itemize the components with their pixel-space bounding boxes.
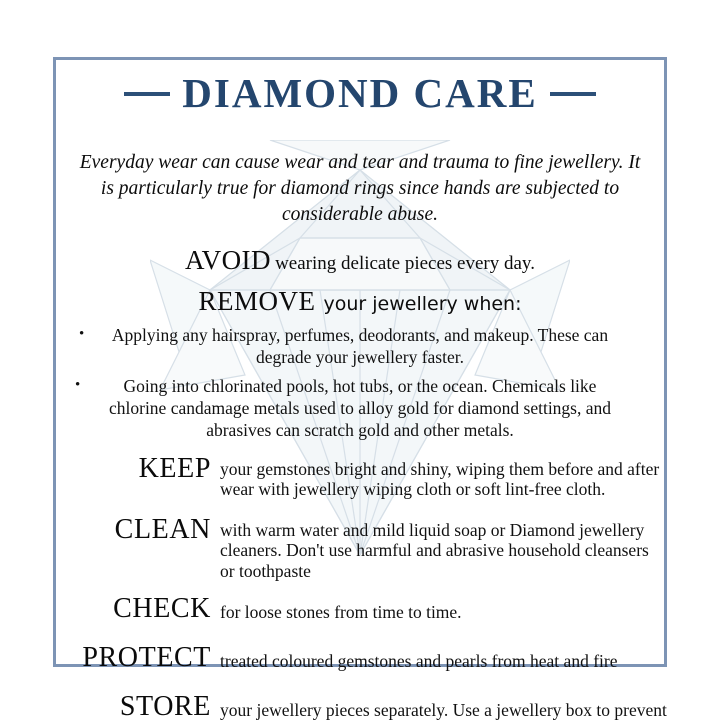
page-title: DIAMOND CARE [182, 73, 537, 114]
keyword-clean: CLEAN [59, 517, 220, 544]
title-rule-right-icon [550, 92, 596, 96]
title-rule-left-icon [124, 92, 170, 96]
removal-bullet-list: • Applying any hairspray, perfumes, deod… [83, 325, 637, 441]
intro-paragraph: Everyday wear can cause wear and tear an… [77, 150, 643, 228]
keyword-protect: PROTECT [59, 645, 220, 672]
care-text-keep: your gemstones bright and shiny, wiping … [220, 456, 667, 500]
care-text-store: your jewellery pieces separately. Use a … [220, 694, 667, 720]
diamond-care-poster: DIAMOND CARE Everyday wear can cause wea… [0, 0, 720, 720]
keyword-check: CHECK [59, 596, 220, 623]
poster-content: DIAMOND CARE Everyday wear can cause wea… [53, 57, 667, 667]
lead-line-remove: REMOVE your jewellery when: [53, 286, 667, 317]
list-item-text: Going into chlorinated pools, hot tubs, … [109, 376, 611, 440]
lead-line-avoid: AVOID wearing delicate pieces every day. [53, 245, 667, 276]
lead-text-remove: your jewellery when: [323, 293, 521, 315]
keyword-keep: KEEP [59, 456, 220, 483]
list-item-text: Applying any hairspray, perfumes, deodor… [112, 325, 608, 367]
care-text-protect: treated coloured gemstones and pearls fr… [220, 645, 667, 671]
care-text-check: for loose stones from time to time. [220, 596, 667, 622]
lead-text-avoid: wearing delicate pieces every day. [275, 253, 535, 274]
care-row-protect: PROTECT treated coloured gemstones and p… [53, 645, 667, 672]
keyword-store: STORE [59, 694, 220, 720]
list-item: • Going into chlorinated pools, hot tubs… [83, 376, 637, 442]
keyword-remove: REMOVE [198, 286, 315, 316]
care-text-clean: with warm water and mild liquid soap or … [220, 517, 667, 581]
care-row-keep: KEEP your gemstones bright and shiny, wi… [53, 456, 667, 500]
care-row-store: STORE your jewellery pieces separately. … [53, 694, 667, 720]
title-row: DIAMOND CARE [53, 46, 667, 142]
list-item: • Applying any hairspray, perfumes, deod… [83, 325, 637, 369]
keyword-avoid: AVOID [185, 245, 271, 275]
care-row-clean: CLEAN with warm water and mild liquid so… [53, 517, 667, 581]
care-instruction-rows: KEEP your gemstones bright and shiny, wi… [53, 456, 667, 720]
bullet-dot-icon: • [75, 376, 80, 395]
care-row-check: CHECK for loose stones from time to time… [53, 596, 667, 623]
bullet-dot-icon: • [79, 325, 84, 344]
